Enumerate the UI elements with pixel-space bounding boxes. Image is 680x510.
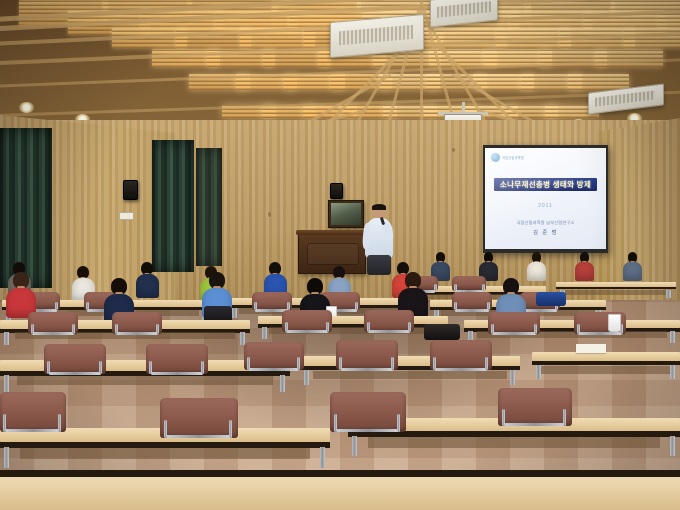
chair-frame (49, 372, 101, 375)
chair-leg (454, 284, 457, 291)
chair[interactable] (28, 312, 78, 334)
chair-leg (58, 414, 61, 432)
chair-frame (578, 332, 622, 335)
chair-backrest (498, 388, 572, 426)
table-leg (666, 290, 671, 298)
attendee-back-5 (622, 252, 643, 279)
table-apron (313, 371, 507, 379)
attendee-torso (136, 274, 159, 297)
chair-frame (249, 368, 299, 371)
chair[interactable] (160, 398, 238, 438)
chair-backrest (336, 340, 398, 370)
chair-leg (115, 324, 118, 334)
table (532, 352, 680, 378)
chair-frame (151, 372, 203, 375)
chair-leg (201, 361, 204, 375)
lecture-hall-photo: 국립산림과학원 소나무재선충병 생태와 방제 2011 국립산림과학원 남부산림… (0, 0, 680, 510)
handout-paper (576, 344, 606, 353)
chair-frame (368, 330, 410, 333)
chair-leg (247, 357, 250, 370)
chair-backrest (330, 392, 406, 432)
table-top (532, 352, 680, 361)
chair-frame (504, 423, 566, 426)
chair-leg (339, 357, 342, 371)
attendee-torso (623, 262, 642, 281)
chair-frame (336, 429, 400, 432)
chair-backrest (44, 344, 106, 374)
table-leg (304, 370, 309, 385)
chair-leg (534, 324, 537, 334)
chair-leg (229, 420, 232, 438)
chair[interactable] (282, 310, 332, 332)
chair[interactable] (488, 312, 540, 334)
chair-leg (31, 324, 34, 334)
foreground-table-edge (0, 470, 680, 477)
chair-frame (286, 330, 328, 333)
table-leg (4, 447, 9, 468)
chair-leg (355, 302, 358, 310)
chair-leg (326, 322, 329, 332)
table (556, 282, 676, 297)
table-leg (670, 331, 675, 343)
chair-leg (334, 414, 337, 432)
chair[interactable] (336, 340, 398, 370)
chair[interactable] (452, 276, 486, 291)
chair[interactable] (452, 292, 492, 310)
table-leg (670, 436, 675, 456)
chair-backrest (160, 398, 238, 438)
table-leg (510, 370, 515, 385)
chair-leg (487, 302, 490, 310)
chair-leg (99, 361, 102, 375)
chair-backrest (364, 310, 414, 332)
chair-backrest (244, 342, 304, 370)
chair-leg (55, 302, 58, 310)
chair-leg (86, 302, 89, 310)
chair-backrest (488, 312, 540, 334)
chair[interactable] (146, 344, 208, 374)
chair-leg (397, 414, 400, 432)
table-leg (280, 375, 285, 392)
chair[interactable] (364, 310, 414, 332)
camera-bag (424, 324, 460, 340)
table-leg (352, 436, 357, 456)
chair-leg (408, 322, 411, 332)
chair-frame (5, 429, 60, 432)
table-leg (4, 332, 9, 345)
chair[interactable] (252, 292, 292, 310)
chair-frame (32, 332, 74, 335)
chair[interactable] (112, 312, 162, 334)
table-leg (262, 327, 267, 339)
table-apron (563, 290, 669, 295)
chair-backrest (452, 276, 486, 291)
attendee-back-3 (526, 252, 547, 279)
table-leg (320, 447, 325, 468)
chair-leg (254, 302, 257, 310)
chair-frame (116, 332, 158, 335)
chair-frame (435, 368, 487, 371)
chair[interactable] (244, 342, 304, 370)
chair-leg (164, 420, 167, 438)
table-apron (17, 376, 272, 385)
chair-leg (149, 361, 152, 375)
chair-leg (433, 357, 436, 371)
attendee-torso (575, 262, 594, 281)
blue-bag (536, 292, 566, 306)
chair-backrest (252, 292, 292, 310)
chair-leg (297, 357, 300, 370)
table-leg (4, 375, 9, 392)
table-leg (536, 365, 541, 379)
chair[interactable] (0, 392, 66, 432)
table-apron (541, 366, 671, 374)
chair-backrest (0, 392, 66, 432)
attendee-red-white (4, 272, 38, 316)
table-apron (20, 448, 310, 459)
chair-backrest (28, 312, 78, 334)
table-edge (556, 287, 676, 289)
chair-leg (156, 324, 159, 334)
chair-leg (563, 409, 566, 426)
foreground-table (0, 476, 680, 510)
chair-leg (485, 357, 488, 371)
chair[interactable] (44, 344, 106, 374)
table-leg (670, 365, 675, 379)
chair-frame (166, 435, 232, 438)
chair-frame (455, 309, 489, 312)
chair-leg (72, 324, 75, 334)
attendee-torso (527, 262, 546, 281)
table-edge (532, 361, 680, 365)
chair-frame (492, 332, 536, 335)
chair-leg (491, 324, 494, 334)
chair-backrest (452, 292, 492, 310)
chair-leg (577, 324, 580, 334)
chair[interactable] (330, 392, 406, 432)
paper-cup-right (608, 314, 621, 332)
chair-leg (3, 414, 6, 432)
chair-frame (341, 368, 393, 371)
chair-leg (391, 357, 394, 371)
chair-backrest (430, 340, 492, 370)
attendee-dark-blue (134, 262, 161, 296)
table-apron (368, 437, 660, 448)
chair[interactable] (430, 340, 492, 370)
chair-leg (47, 361, 50, 375)
chair-leg (502, 409, 505, 426)
chair-leg (367, 322, 370, 332)
chair-leg (482, 284, 485, 291)
chair-leg (287, 302, 290, 310)
attendee-back-4 (574, 252, 595, 279)
chair-backrest (146, 344, 208, 374)
chair-leg (454, 302, 457, 310)
chair-backrest (112, 312, 162, 334)
chair[interactable] (498, 388, 572, 426)
chair-backrest (282, 310, 332, 332)
chair-leg (434, 284, 437, 291)
chair-leg (285, 322, 288, 332)
